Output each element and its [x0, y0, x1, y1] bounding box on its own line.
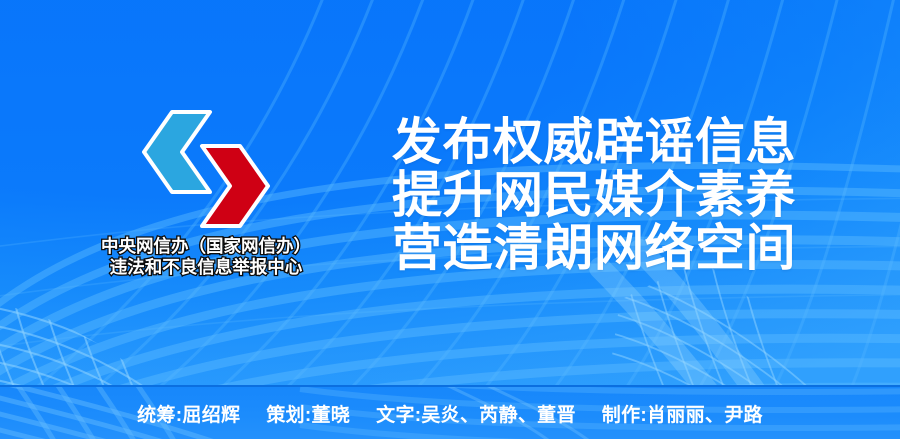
headline-line-3: 营造清朗网络空间 — [392, 222, 796, 275]
poster-banner: 中央网信办（国家网信办） 违法和不良信息举报中心 发布权威辟谣信息 提升网民媒介… — [0, 0, 900, 439]
logo-caption-line-2: 违法和不良信息举报中心 — [76, 257, 336, 278]
footer-bar: 统筹:屈绍辉 策划:董晓 文字:吴炎、芮静、董晋 制作:肖丽丽、尹路 — [0, 385, 900, 439]
logo-caption-line-1: 中央网信办（国家网信办） — [76, 236, 336, 257]
logo-block: 中央网信办（国家网信办） 违法和不良信息举报中心 — [76, 108, 336, 278]
credit-producer: 制作:肖丽丽、尹路 — [602, 400, 763, 427]
credit-coordinator: 统筹:屈绍辉 — [137, 400, 240, 427]
credits-row: 统筹:屈绍辉 策划:董晓 文字:吴炎、芮静、董晋 制作:肖丽丽、尹路 — [0, 387, 900, 439]
headline-line-2: 提升网民媒介素养 — [392, 169, 796, 222]
cyberspace-logo-icon — [142, 108, 270, 230]
logo-caption: 中央网信办（国家网信办） 违法和不良信息举报中心 — [76, 236, 336, 278]
credit-planner: 策划:董晓 — [266, 400, 350, 427]
headline-line-1: 发布权威辟谣信息 — [392, 116, 796, 169]
credit-writer: 文字:吴炎、芮静、董晋 — [376, 400, 576, 427]
headline: 发布权威辟谣信息 提升网民媒介素养 营造清朗网络空间 — [392, 116, 796, 275]
